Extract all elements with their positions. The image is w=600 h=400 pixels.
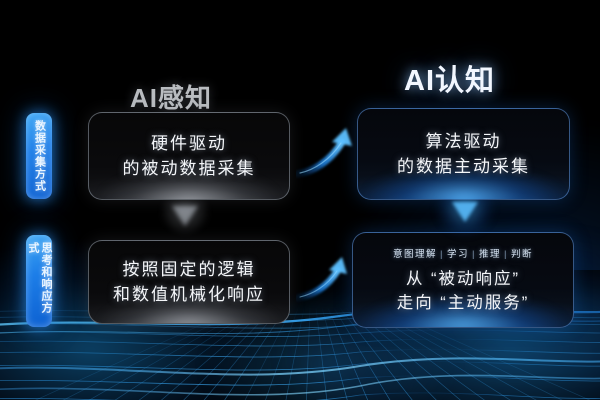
panel-line-2: 走向 “主动服务” <box>397 291 530 315</box>
row-tag-thinking-response: 思考和响应方式 <box>26 235 52 327</box>
panel-line-2: 的被动数据采集 <box>123 156 256 181</box>
column-title-perception: AI感知 <box>130 78 212 115</box>
capability-item: 判断 <box>511 249 533 260</box>
panel-bottom-right: 意图理解|学习|推理|判断 从 “被动响应” 走向 “主动服务” <box>352 232 574 328</box>
capability-item: 推理 <box>479 249 501 260</box>
capability-separator: | <box>440 249 444 260</box>
panel-bottom-left: 按照固定的逻辑 和数值机械化响应 <box>88 240 290 324</box>
capability-item: 学习 <box>447 249 469 260</box>
column-title-cognition: AI认知 <box>404 57 495 99</box>
capability-separator: | <box>472 249 476 260</box>
panel-text: 算法驱动 的数据主动采集 <box>397 129 530 179</box>
panel-top-left: 硬件驱动 的被动数据采集 <box>88 112 290 200</box>
panel-text: 从 “被动响应” 走向 “主动服务” <box>397 267 530 315</box>
panel-line-1: 按照固定的逻辑 <box>113 257 265 282</box>
panel-top-right: 算法驱动 的数据主动采集 <box>357 108 570 200</box>
panel-text: 按照固定的逻辑 和数值机械化响应 <box>113 257 265 307</box>
capability-list: 意图理解|学习|推理|判断 <box>393 246 533 260</box>
row-tag-label: 数据采集方式 <box>33 120 46 192</box>
row-tag-data-collection: 数据采集方式 <box>26 113 52 199</box>
panel-line-1: 算法驱动 <box>397 129 530 154</box>
panel-line-2: 的数据主动采集 <box>397 154 530 179</box>
capability-separator: | <box>504 249 508 260</box>
chevron-down-icon-right <box>452 202 478 222</box>
panel-line-1: 从 “被动响应” <box>397 267 530 291</box>
panel-text: 硬件驱动 的被动数据采集 <box>123 131 256 181</box>
panel-line-1: 硬件驱动 <box>123 131 256 156</box>
chevron-down-icon-left <box>172 206 198 226</box>
panel-line-2: 和数值机械化响应 <box>113 282 265 307</box>
capability-item: 意图理解 <box>393 249 437 260</box>
infographic-canvas: AI感知 AI认知 数据采集方式 思考和响应方式 硬件驱动 的被动数据采集 算法… <box>0 0 600 400</box>
row-tag-label: 思考和响应方式 <box>26 242 52 320</box>
